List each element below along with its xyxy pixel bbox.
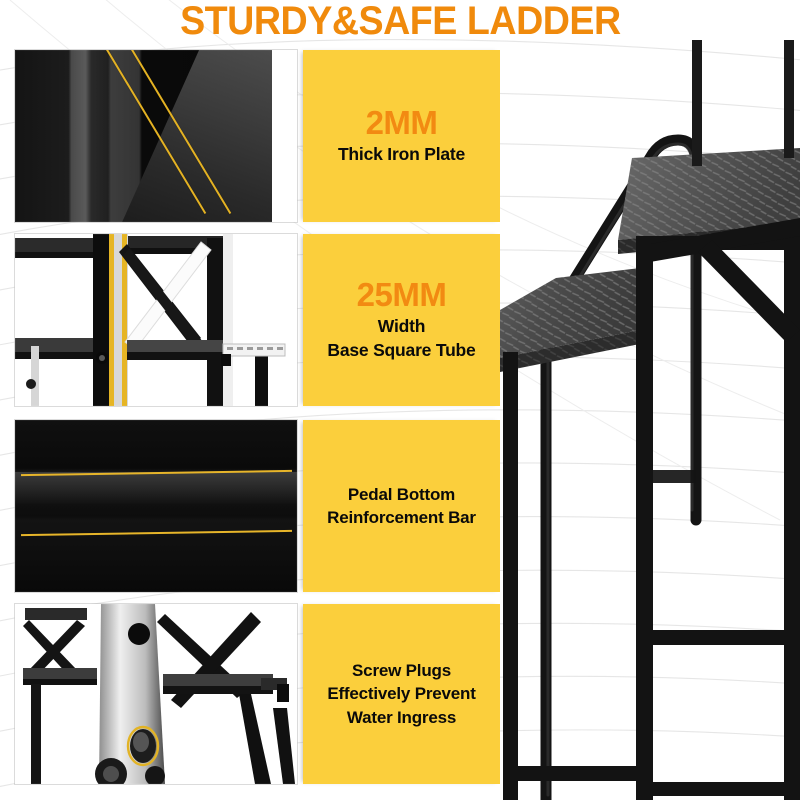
- feature-line-2: Base Square Tube: [327, 338, 475, 362]
- feature-line-1: Screw Plugs: [352, 659, 451, 682]
- photo-border: [15, 50, 297, 222]
- feature-headline: 25MM: [357, 277, 447, 314]
- feature-row-screw-plugs: Screw Plugs Effectively Prevent Water In…: [0, 604, 800, 784]
- photo-border: [15, 604, 297, 784]
- feature-line-3: Water Ingress: [347, 706, 456, 729]
- feature-line-1: Pedal Bottom: [348, 483, 455, 506]
- feature-photo-thick-iron-plate: [15, 50, 297, 222]
- feature-line-2: Reinforcement Bar: [327, 506, 476, 529]
- photo-border: [15, 420, 297, 592]
- feature-headline: 2MM: [366, 105, 438, 142]
- page-title-text: STURDY&SAFE LADDER: [180, 0, 621, 44]
- feature-line-2: Effectively Prevent: [327, 682, 475, 705]
- feature-panel-screw-plugs: Screw Plugs Effectively Prevent Water In…: [303, 604, 500, 784]
- feature-panel-thick-iron-plate: 2MM Thick Iron Plate: [303, 50, 500, 222]
- feature-line-1: Thick Iron Plate: [338, 142, 465, 166]
- feature-photo-base-square-tube: [15, 234, 297, 406]
- feature-row-pedal-reinforcement: Pedal Bottom Reinforcement Bar: [0, 420, 800, 592]
- feature-panel-pedal-reinforcement: Pedal Bottom Reinforcement Bar: [303, 420, 500, 592]
- feature-line-1: Width: [378, 314, 425, 338]
- page-title: STURDY&SAFE LADDER: [0, 0, 800, 44]
- feature-photo-pedal-reinforcement: [15, 420, 297, 592]
- infographic-canvas: STURDY&SAFE LADDER 2MM Thick Iron Plate: [0, 0, 800, 800]
- feature-photo-screw-plugs: [15, 604, 297, 784]
- photo-border: [15, 234, 297, 406]
- feature-row-base-square-tube: 25MM Width Base Square Tube: [0, 234, 800, 406]
- feature-panel-base-square-tube: 25MM Width Base Square Tube: [303, 234, 500, 406]
- feature-row-thick-iron-plate: 2MM Thick Iron Plate: [0, 50, 800, 222]
